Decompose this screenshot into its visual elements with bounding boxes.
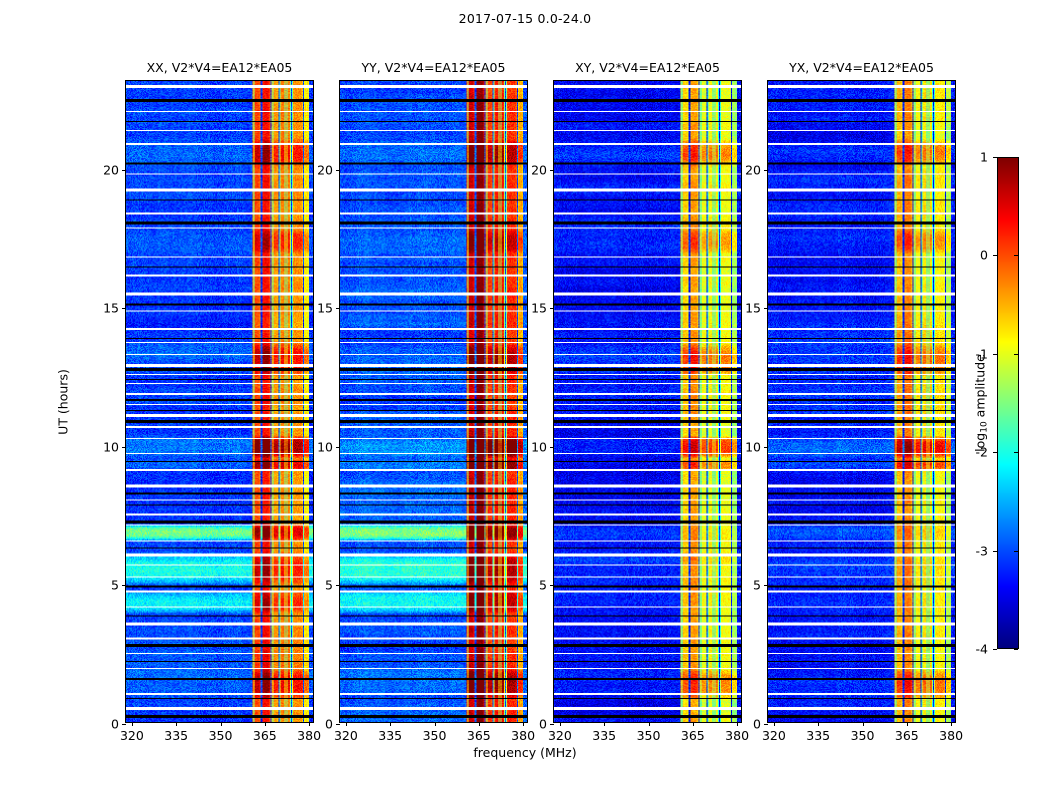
x-tick-label-320: 320	[548, 728, 572, 743]
waterfall-image-yy	[340, 81, 527, 722]
y-tick-label-15: 15	[745, 301, 761, 316]
x-tick-335	[390, 722, 391, 726]
x-tick-label-350: 350	[423, 728, 447, 743]
x-tick-335	[176, 722, 177, 726]
x-tick-label-320: 320	[334, 728, 358, 743]
y-tick-label-20: 20	[103, 162, 119, 177]
y-tick-5	[764, 585, 768, 586]
x-axis-label: frequency (MHz)	[0, 745, 1050, 760]
panel-title-xy: XY, V2*V4=EA12*EA05	[575, 60, 720, 75]
y-tick-10	[122, 447, 126, 448]
colorbar-tick-label--4: -4	[976, 642, 988, 657]
y-tick-label-0: 0	[111, 717, 119, 732]
x-tick-350	[649, 722, 650, 726]
x-tick-label-380: 380	[725, 728, 749, 743]
y-tick-20	[764, 170, 768, 171]
y-tick-10	[336, 447, 340, 448]
y-tick-label-0: 0	[753, 717, 761, 732]
x-tick-label-380: 380	[511, 728, 535, 743]
panel-title-yx: YX, V2*V4=EA12*EA05	[789, 60, 934, 75]
x-tick-365	[693, 722, 694, 726]
panel-title-yy: YY, V2*V4=EA12*EA05	[362, 60, 506, 75]
colorbar[interactable]	[997, 157, 1019, 649]
panel-yx[interactable]: YX, V2*V4=EA12*EA05320335350365380051015…	[767, 80, 956, 723]
waterfall-image-yx	[768, 81, 955, 722]
colorbar-tick-0	[993, 255, 997, 256]
matplotlib-figure: 2017-07-15 0.0-24.0 XX, V2*V4=EA12*EA053…	[0, 0, 1050, 800]
y-tick-0	[122, 724, 126, 725]
colorbar-label-subscript: 10	[980, 421, 990, 432]
y-tick-label-10: 10	[531, 439, 547, 454]
colorbar-gradient	[998, 158, 1018, 648]
colorbar-tick-1	[993, 157, 997, 158]
x-tick-335	[818, 722, 819, 726]
y-tick-label-15: 15	[103, 301, 119, 316]
x-tick-335	[604, 722, 605, 726]
x-tick-365	[907, 722, 908, 726]
x-tick-320	[132, 722, 133, 726]
y-tick-label-5: 5	[539, 578, 547, 593]
x-tick-label-350: 350	[851, 728, 875, 743]
y-tick-5	[550, 585, 554, 586]
x-tick-350	[863, 722, 864, 726]
y-tick-15	[764, 308, 768, 309]
y-tick-label-0: 0	[539, 717, 547, 732]
x-tick-350	[221, 722, 222, 726]
x-tick-label-335: 335	[378, 728, 402, 743]
y-tick-label-10: 10	[745, 439, 761, 454]
x-tick-label-335: 335	[806, 728, 830, 743]
y-tick-0	[764, 724, 768, 725]
x-tick-380	[951, 722, 952, 726]
x-tick-365	[479, 722, 480, 726]
colorbar-label-tail: amplitude	[973, 354, 988, 421]
y-tick-15	[122, 308, 126, 309]
waterfall-image-xy	[554, 81, 741, 722]
colorbar-tick--2	[993, 452, 997, 453]
x-tick-label-335: 335	[164, 728, 188, 743]
waterfall-image-xx	[126, 81, 313, 722]
x-tick-320	[774, 722, 775, 726]
x-tick-label-320: 320	[120, 728, 144, 743]
y-tick-label-20: 20	[745, 162, 761, 177]
y-tick-20	[122, 170, 126, 171]
x-tick-365	[265, 722, 266, 726]
x-tick-320	[346, 722, 347, 726]
y-tick-0	[550, 724, 554, 725]
y-tick-20	[336, 170, 340, 171]
y-tick-label-5: 5	[753, 578, 761, 593]
y-tick-label-20: 20	[531, 162, 547, 177]
colorbar-tick-inner--3	[1014, 551, 1018, 552]
y-tick-label-20: 20	[317, 162, 333, 177]
y-tick-10	[764, 447, 768, 448]
x-tick-350	[435, 722, 436, 726]
y-tick-5	[122, 585, 126, 586]
y-tick-5	[336, 585, 340, 586]
y-tick-15	[550, 308, 554, 309]
colorbar-tick-inner-1	[1014, 157, 1018, 158]
y-tick-label-15: 15	[531, 301, 547, 316]
x-tick-label-380: 380	[297, 728, 321, 743]
colorbar-tick-inner-0	[1014, 255, 1018, 256]
y-axis-label: UT (hours)	[56, 369, 71, 435]
colorbar-tick-inner--2	[1014, 452, 1018, 453]
x-tick-320	[560, 722, 561, 726]
x-tick-label-350: 350	[637, 728, 661, 743]
x-tick-label-335: 335	[592, 728, 616, 743]
colorbar-tick-label-0: 0	[980, 248, 988, 263]
y-tick-label-10: 10	[317, 439, 333, 454]
colorbar-tick--1	[993, 354, 997, 355]
x-tick-label-365: 365	[467, 728, 491, 743]
y-tick-15	[336, 308, 340, 309]
x-tick-label-320: 320	[762, 728, 786, 743]
colorbar-tick-label-1: 1	[980, 150, 988, 165]
y-tick-label-0: 0	[325, 717, 333, 732]
x-tick-label-350: 350	[209, 728, 233, 743]
panel-yy[interactable]: YY, V2*V4=EA12*EA05320335350365380051015…	[339, 80, 528, 723]
y-tick-20	[550, 170, 554, 171]
colorbar-tick--4	[993, 649, 997, 650]
y-tick-label-10: 10	[103, 439, 119, 454]
x-tick-label-365: 365	[681, 728, 705, 743]
y-tick-10	[550, 447, 554, 448]
y-tick-label-5: 5	[325, 578, 333, 593]
panel-title-xx: XX, V2*V4=EA12*EA05	[147, 60, 293, 75]
figure-suptitle: 2017-07-15 0.0-24.0	[0, 11, 1050, 26]
x-tick-380	[737, 722, 738, 726]
panel-xx[interactable]: XX, V2*V4=EA12*EA05320335350365380051015…	[125, 80, 314, 723]
colorbar-label: log10 amplitude	[973, 354, 988, 452]
y-tick-label-5: 5	[111, 578, 119, 593]
x-tick-label-380: 380	[939, 728, 963, 743]
colorbar-tick-inner--1	[1014, 354, 1018, 355]
panel-xy[interactable]: XY, V2*V4=EA12*EA05320335350365380051015…	[553, 80, 742, 723]
y-tick-0	[336, 724, 340, 725]
x-tick-label-365: 365	[895, 728, 919, 743]
colorbar-label-base: log	[973, 433, 988, 452]
x-tick-380	[523, 722, 524, 726]
colorbar-tick-label--3: -3	[976, 543, 988, 558]
y-tick-label-15: 15	[317, 301, 333, 316]
x-tick-380	[309, 722, 310, 726]
colorbar-tick--3	[993, 551, 997, 552]
x-tick-label-365: 365	[253, 728, 277, 743]
colorbar-tick-inner--4	[1014, 649, 1018, 650]
